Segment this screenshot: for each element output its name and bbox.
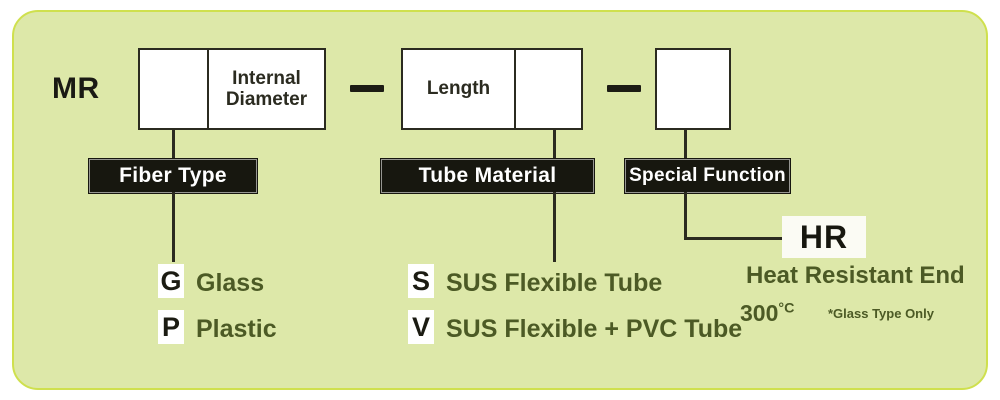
banner-fiber-type-label: Fiber Type (119, 164, 227, 188)
legend-key-plastic-letter: P (162, 312, 180, 343)
internal-diameter-line1: Internal (232, 68, 301, 89)
legend-label-hr-description: Heat Resistant End (746, 262, 965, 290)
code-box-special-function-value (657, 50, 729, 128)
code-box-length-value: Length (403, 50, 514, 128)
legend-label-glass: Glass (196, 269, 264, 298)
legend-label-sus-pvc: SUS Flexible + PVC Tube (446, 315, 742, 344)
legend-key-sus-pvc: V (408, 310, 434, 344)
legend-key-sus-flexible: S (408, 264, 434, 298)
code-box-tube-material-value (516, 50, 581, 128)
hr-temperature-unit: °C (778, 300, 794, 316)
connector-fiber-type-vertical-icon (172, 128, 175, 160)
diagram-canvas: MR Internal Diameter Length Fiber Type T… (0, 0, 1000, 400)
connector-special-function-vertical-icon (684, 128, 687, 160)
banner-tube-material-label: Tube Material (419, 164, 557, 188)
separator-dash-1-icon (350, 85, 384, 92)
banner-special-function-label: Special Function (629, 165, 786, 187)
banner-fiber-type: Fiber Type (88, 158, 258, 194)
code-box-internal-diameter[interactable]: Internal Diameter (208, 48, 326, 130)
legend-key-glass: G (158, 264, 184, 298)
code-box-fiber-type[interactable] (138, 48, 208, 130)
connector-hr-horizontal-icon (684, 237, 788, 240)
legend-label-sus-flexible: SUS Flexible Tube (446, 269, 662, 298)
code-box-tube-material[interactable] (515, 48, 583, 130)
banner-tube-material: Tube Material (380, 158, 595, 194)
connector-hr-vertical-icon (684, 192, 687, 240)
banner-special-function: Special Function (624, 158, 791, 194)
legend-note-glass-type-only: *Glass Type Only (828, 306, 934, 321)
hr-temperature-value: 300 (740, 300, 778, 326)
legend-label-plastic: Plastic (196, 315, 277, 344)
connector-fiber-legend-vertical-icon (172, 192, 175, 262)
code-box-special-function[interactable] (655, 48, 731, 130)
connector-tube-material-vertical-icon (553, 128, 556, 160)
legend-label-hr-temperature: 300°C (740, 300, 794, 327)
code-box-internal-diameter-value: Internal Diameter (209, 50, 324, 128)
connector-tube-legend-vertical-icon (553, 192, 556, 262)
legend-key-hr-code: HR (800, 219, 848, 256)
legend-key-glass-letter: G (160, 266, 181, 297)
legend-key-plastic: P (158, 310, 184, 344)
legend-key-sus-flexible-letter: S (412, 266, 430, 297)
legend-key-sus-pvc-letter: V (412, 312, 430, 343)
internal-diameter-line2: Diameter (226, 89, 307, 110)
code-box-fiber-type-value (140, 50, 207, 128)
separator-dash-2-icon (607, 85, 641, 92)
legend-key-hr: HR (782, 216, 866, 258)
code-box-length[interactable]: Length (401, 48, 515, 130)
prefix-label: MR (52, 72, 100, 106)
